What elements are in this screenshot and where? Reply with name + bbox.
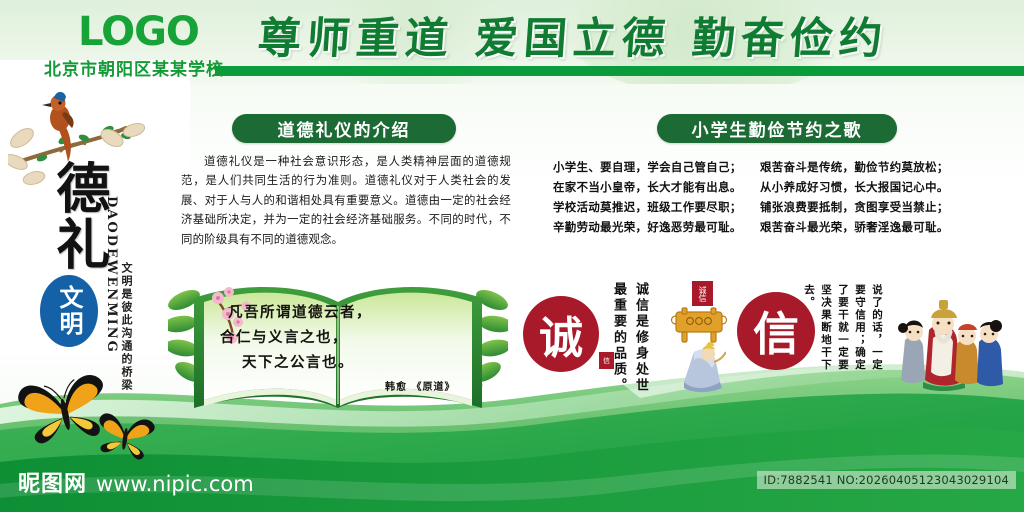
section-header-thrift-song: 小学生勤俭节约之歌 (657, 114, 897, 143)
school-name: 北京市朝阳区某某学校 (44, 55, 224, 80)
watermark-site-url: www.nipic.com (96, 472, 254, 496)
ancient-scholars-illustration (895, 296, 1007, 392)
seal-cheng: 诚 (523, 296, 599, 372)
book-quote-source: 韩愈 《原道》 (385, 378, 455, 393)
lyrics-line: 在家不当小皇帝，长大才能有出息。 (553, 177, 742, 197)
watermark-site-name: 昵图网 (18, 466, 87, 498)
lyrics-line: 小学生、要自理，学会自己管自己； (553, 157, 742, 177)
lyrics-line: 艰苦奋斗是传统，勤俭节约莫放松； (760, 157, 949, 177)
lyrics-line: 艰苦奋斗最光荣，骄奢淫逸最可耻。 (760, 217, 949, 237)
kneeling-scholar-illustration (676, 338, 726, 394)
lyrics-line: 学校活动莫推迟，班级工作要尽职； (553, 197, 742, 217)
lyrics-line: 从小养成好习惯，长大报国记心中。 (760, 177, 949, 197)
lyrics-column-right: 艰苦奋斗是传统，勤俭节约莫放松； 从小养成好习惯，长大报国记心中。 铺张浪费要抵… (760, 157, 949, 237)
logo: LOGO (78, 12, 199, 52)
book-quote: 凡吾所谓道德云者， 合仁与义言之也， 天下之公言也。 (228, 300, 458, 375)
section-header-ethics: 道德礼仪的介绍 (232, 114, 456, 143)
lyrics-line: 铺张浪费要抵制，贪图享受当禁止； (760, 197, 949, 217)
lyrics-line: 辛勤劳动最光荣，好逸恶劳最可耻。 (553, 217, 742, 237)
book-quote-line-2: 合仁与义言之也， (220, 325, 458, 350)
book-quote-line-1: 凡吾所谓道德云者， (228, 300, 458, 325)
page-title: 尊师重道 爱国立德 勤奋俭约 (256, 10, 960, 68)
asset-id-label: ID:7882541 NO:20260405123043029104 (757, 471, 1016, 489)
poster-canvas: LOGO 北京市朝阳区某某学校 尊师重道 爱国立德 勤奋俭约 (0, 0, 1024, 512)
left-slogan: 文明是彼此沟通的桥梁 (118, 262, 134, 392)
integrity-vertical-text-left: 诚信是修身处世最重要的品质。 (607, 282, 651, 394)
ethics-paragraph: 道德礼仪是一种社会意识形态，是人类精神层面的道德规范，是人们共同生活的行为准则。… (181, 152, 511, 249)
integrity-vertical-text-right: 说了的话，一定要守信用；确定了要干就一定要坚决果断地干下去。 (800, 284, 885, 376)
book-quote-line-3: 天下之公言也。 (242, 350, 458, 375)
watermark-site: 昵图网 www.nipic.com (18, 466, 254, 498)
wenming-badge: 文明 (40, 275, 98, 347)
butterfly-icon-small (92, 405, 160, 465)
pinyin-label: DAODEWENMING (104, 196, 119, 354)
deli-calligraphy: 德礼 (52, 160, 105, 272)
lyrics-column-left: 小学生、要自理，学会自己管自己； 在家不当小皇帝，长大才能有出息。 学校活动莫推… (553, 157, 742, 237)
